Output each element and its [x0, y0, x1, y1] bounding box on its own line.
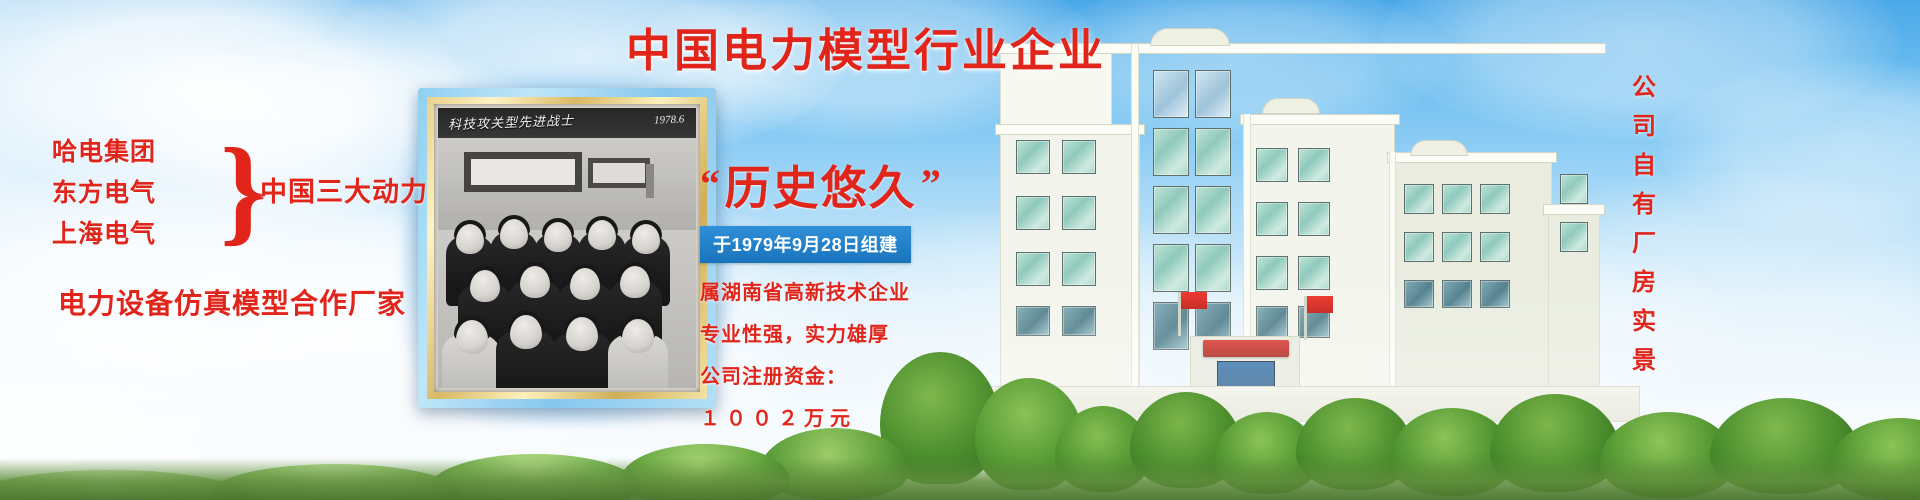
vertical-char-1: 司 [1616, 107, 1672, 146]
vertical-char-0: 公 [1616, 68, 1672, 107]
history-detail-1: 专业性强，实力雄厚 [700, 318, 1000, 347]
history-detail-0: 属湖南省高新技术企业 [700, 276, 1000, 305]
photo-caption-date: 1978.6 [654, 113, 685, 126]
partner-item-2: 上海电气 [52, 214, 156, 255]
promotional-banner: 科技攻关型先进战士 1978.6 [0, 0, 1920, 500]
frame-gold-molding: 科技攻关型先进战士 1978.6 [427, 97, 707, 399]
vertical-char-7: 景 [1616, 341, 1672, 380]
vertical-caption: 公 司 自 有 厂 房 实 景 [1616, 68, 1672, 380]
vertical-char-2: 自 [1616, 146, 1672, 185]
vintage-group-photo: 科技攻关型先进战士 1978.6 [438, 108, 696, 388]
partners-block: 哈电集团 东方电气 上海电气 } 中国三大动力 电力设备仿真模型合作厂家 [44, 132, 464, 254]
partner-item-1: 东方电气 [52, 173, 156, 214]
history-headline-row: “ 历史悠久 ” [700, 160, 1000, 222]
founding-date-badge: 于1979年9月28日组建 [700, 226, 911, 263]
vertical-char-6: 实 [1616, 302, 1672, 341]
partners-group-label: 中国三大动力 [260, 170, 428, 209]
history-block: “ 历史悠久 ” 于1979年9月28日组建 属湖南省高新技术企业 专业性强，实… [700, 160, 1000, 431]
frame-inner-mat: 科技攻关型先进战士 1978.6 [434, 104, 700, 392]
vertical-char-4: 厂 [1616, 224, 1672, 263]
quote-open-mark: “ [700, 160, 720, 208]
vertical-char-5: 房 [1616, 263, 1672, 302]
banner-title: 中国电力模型行业企业 [566, 14, 1166, 79]
history-headline: 历史悠久 [724, 160, 916, 216]
history-detail-3: １００２万元 [700, 402, 1000, 431]
vertical-char-3: 有 [1616, 185, 1672, 224]
partner-item-0: 哈电集团 [52, 132, 156, 173]
quote-close-mark: ” [921, 160, 941, 208]
partners-tagline: 电力设备仿真模型合作厂家 [58, 282, 406, 322]
history-detail-2: 公司注册资金： [700, 360, 1000, 389]
